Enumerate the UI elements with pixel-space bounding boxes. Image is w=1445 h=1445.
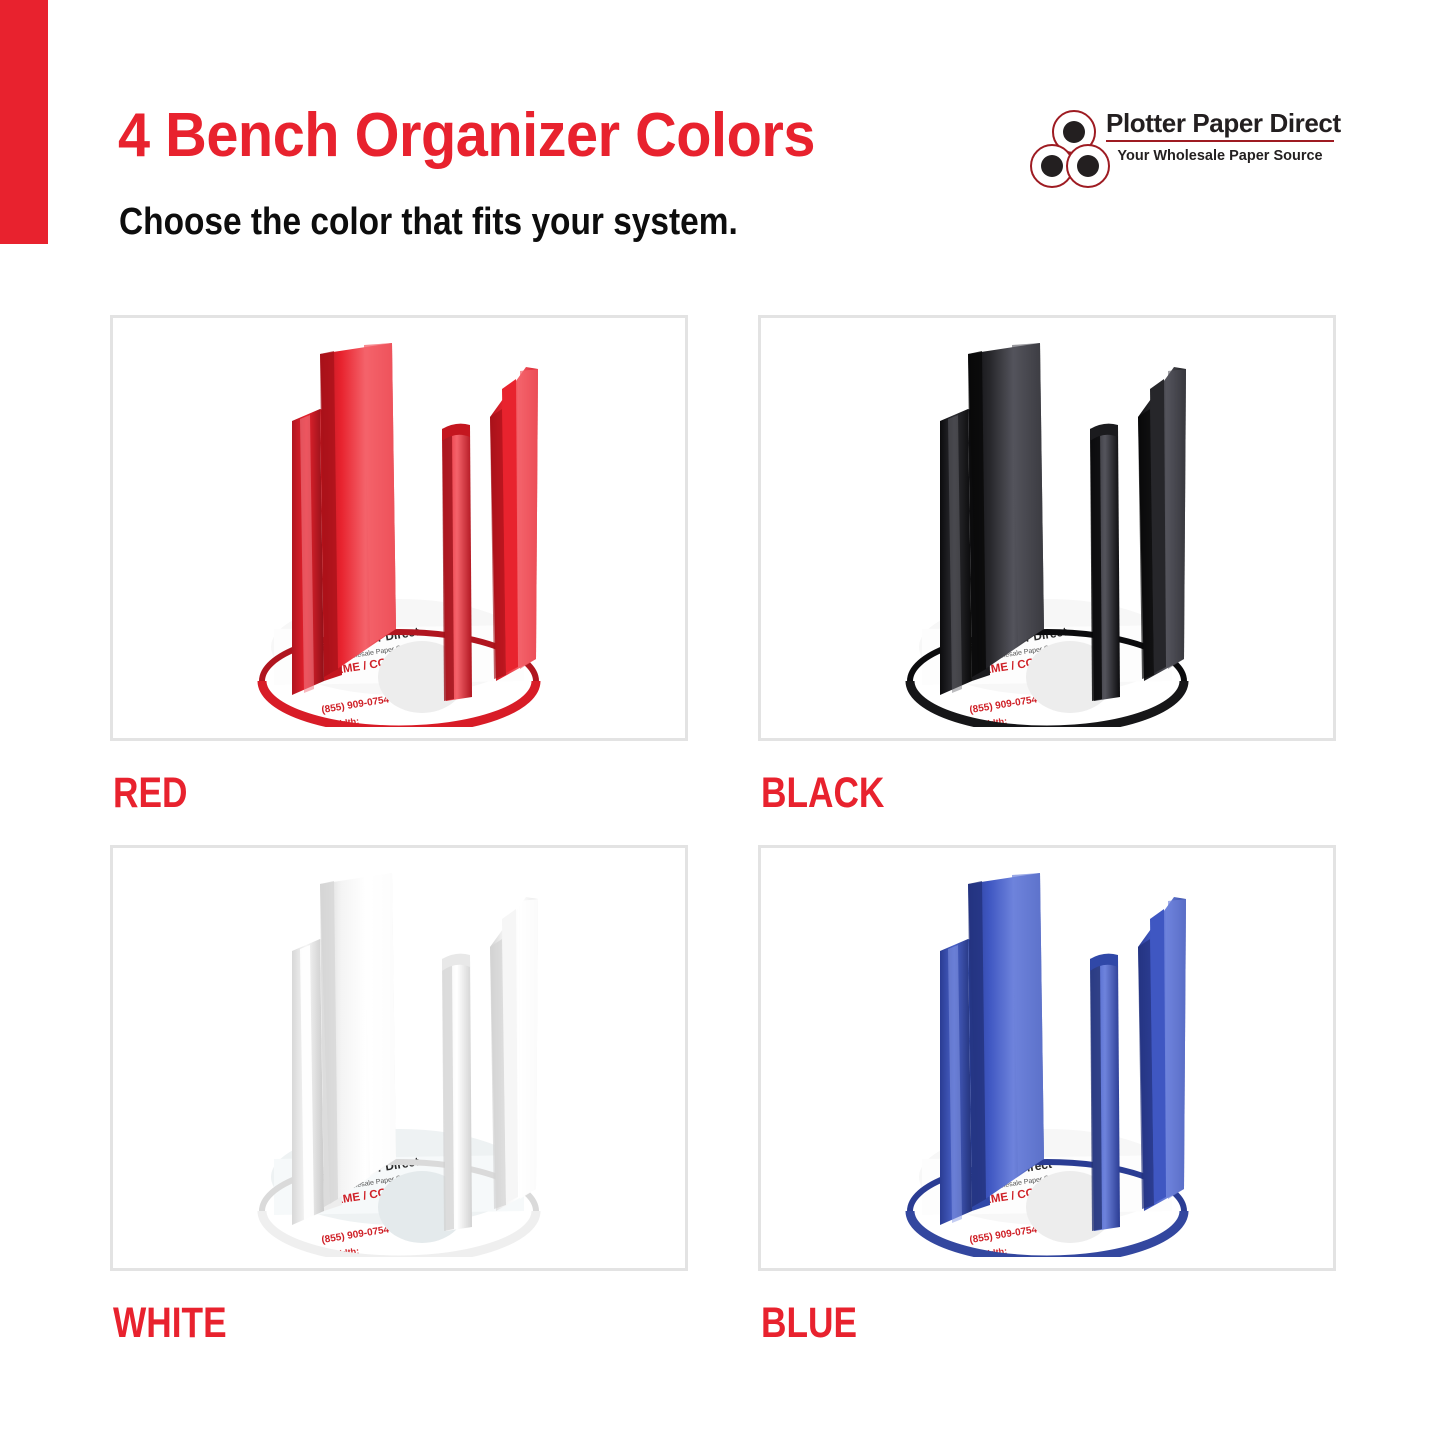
bench-organizer-svg: otter Paper Direct Your Wholesale Paper …: [124, 329, 674, 727]
bench-organizer-product-image-red: otter Paper Direct Your Wholesale Paper …: [124, 329, 674, 727]
bench-organizer-product-image-blue: er Paper Direct Your Wholesale Paper Sou…: [772, 859, 1322, 1257]
swatch-label: WHITE: [113, 1301, 582, 1345]
swatch-cell-blue[interactable]: er Paper Direct Your Wholesale Paper Sou…: [761, 848, 1333, 1345]
bench-organizer-svg: er Paper Direct Your Wholesale Paper Sou…: [772, 859, 1322, 1257]
bench-organizer-product-image-black: otter Paper Direct Your Wholesale Paper …: [772, 329, 1322, 727]
product-image-card[interactable]: otter Paper Direct Your Wholesale Paper …: [113, 848, 685, 1268]
bench-organizer-product-image-white: otter Paper Direct Your Wholesale Paper …: [124, 859, 674, 1257]
swatch-label: BLUE: [761, 1301, 1230, 1345]
bench-organizer-svg: otter Paper Direct Your Wholesale Paper …: [124, 859, 674, 1257]
product-image-card[interactable]: er Paper Direct Your Wholesale Paper Sou…: [761, 848, 1333, 1268]
product-image-card[interactable]: otter Paper Direct Your Wholesale Paper …: [113, 318, 685, 738]
swatch-cell-black[interactable]: otter Paper Direct Your Wholesale Paper …: [761, 318, 1333, 815]
swatch-label: RED: [113, 771, 582, 815]
bench-organizer-svg: otter Paper Direct Your Wholesale Paper …: [772, 329, 1322, 727]
swatch-cell-red[interactable]: otter Paper Direct Your Wholesale Paper …: [113, 318, 685, 815]
swatch-label: BLACK: [761, 771, 1230, 815]
product-image-card[interactable]: otter Paper Direct Your Wholesale Paper …: [761, 318, 1333, 738]
swatch-cell-white[interactable]: otter Paper Direct Your Wholesale Paper …: [113, 848, 685, 1345]
color-swatch-grid: otter Paper Direct Your Wholesale Paper …: [0, 0, 1445, 1445]
